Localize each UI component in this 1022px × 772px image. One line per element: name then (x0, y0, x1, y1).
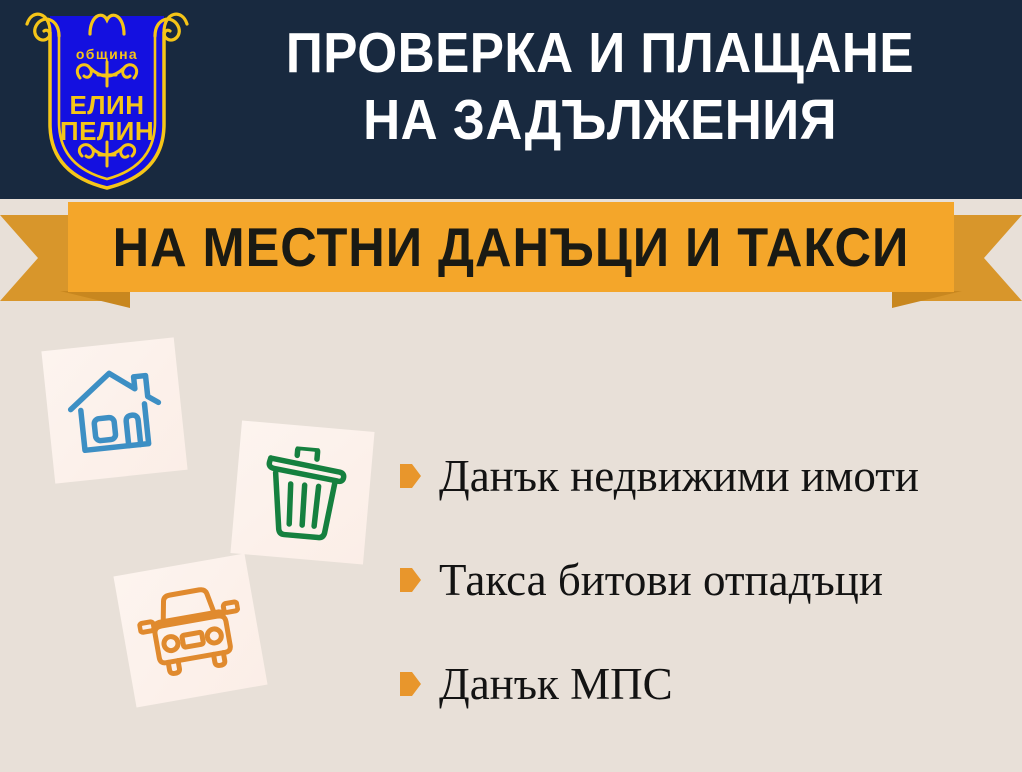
page-title: ПРОВЕРКА И ПЛАЩАНЕ НА ЗАДЪЛЖЕНИЯ (231, 20, 969, 154)
ribbon-subtitle-text: НА МЕСТНИ ДАНЪЦИ И ТАКСИ (113, 215, 910, 279)
stamp-card-property (13, 309, 216, 512)
list-item[interactable]: Данък недвижими имоти (400, 424, 1010, 528)
house-icon (62, 362, 167, 460)
ribbon-main-panel: НА МЕСТНИ ДАНЪЦИ И ТАКСИ (68, 202, 954, 292)
arrow-bullet-icon (400, 464, 421, 488)
stamp-card-vehicle (83, 523, 297, 737)
crest-icon: община ЕЛИН ПЕЛИН (24, 6, 190, 192)
list-item-label: Данък недвижими имоти (439, 454, 919, 499)
municipality-crest-logo: община ЕЛИН ПЕЛИН (24, 6, 190, 192)
stamp-paper-area (41, 337, 187, 483)
arrow-bullet-icon (400, 672, 421, 696)
list-item[interactable]: Такса битови отпадъци (400, 528, 1010, 632)
list-item[interactable]: Данък МПС (400, 632, 1010, 736)
list-item-label: Данък МПС (439, 662, 673, 707)
arrow-bullet-icon (400, 568, 421, 592)
trash-bin-icon (256, 443, 350, 542)
stamp-paper-area (113, 553, 267, 707)
service-list: Данък недвижими имоти Такса битови отпад… (400, 424, 1010, 736)
page-title-line-2: НА ЗАДЪЛЖЕНИЯ (231, 87, 969, 154)
subtitle-ribbon: НА МЕСТНИ ДАНЪЦИ И ТАКСИ (0, 199, 1022, 309)
car-icon (132, 579, 249, 682)
header-bar: община ЕЛИН ПЕЛИН (0, 0, 1022, 199)
list-item-label: Такса битови отпадъци (439, 558, 883, 603)
page-title-line-1: ПРОВЕРКА И ПЛАЩАНЕ (286, 21, 914, 85)
poster-canvas: община ЕЛИН ПЕЛИН (0, 0, 1022, 772)
svg-text:община: община (76, 46, 138, 62)
